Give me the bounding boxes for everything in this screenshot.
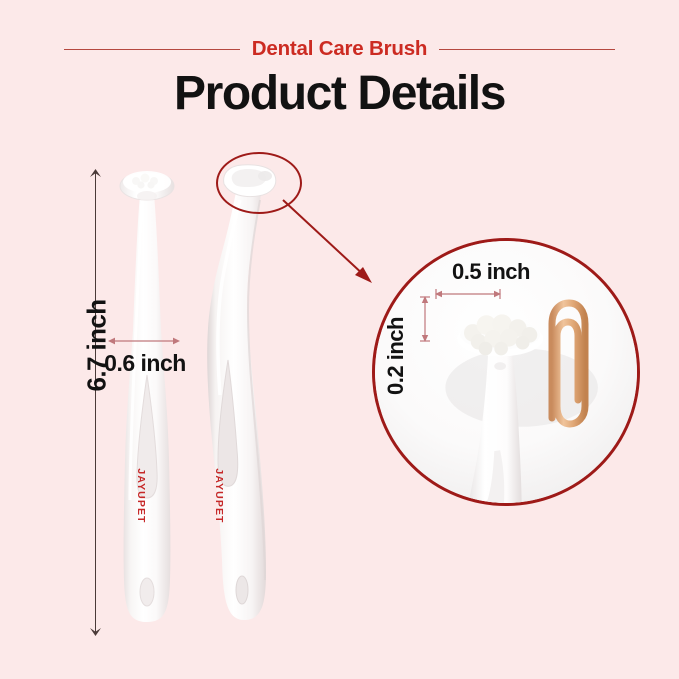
head-width-dimension <box>435 289 501 299</box>
head-collar <box>137 191 157 201</box>
rule-left <box>64 49 240 50</box>
length-arrow-top <box>89 169 102 178</box>
hang-hole <box>140 578 154 606</box>
length-arrow-bottom <box>89 627 102 636</box>
paperclip-reference-object <box>536 296 592 430</box>
eyebrow-text: Dental Care Brush <box>252 39 427 60</box>
handle-width-dimension <box>108 336 180 346</box>
rule-right <box>439 49 615 50</box>
head-width-label: 0.5 inch <box>421 259 561 285</box>
handle-width-label: 0.6 inch <box>85 350 205 377</box>
head-height-dimension <box>420 296 430 342</box>
callout-connector-arrow <box>280 195 380 290</box>
hang-hole <box>236 576 248 604</box>
head-height-label: 0.2 inch <box>383 296 409 416</box>
page-title: Product Details <box>0 68 679 121</box>
product-infographic: Dental Care Brush Product Details <box>0 0 679 679</box>
brand-label-side: JAYUPET <box>213 461 225 531</box>
brush-handle <box>207 192 266 620</box>
eyebrow-row: Dental Care Brush <box>0 36 679 62</box>
header: Dental Care Brush Product Details <box>0 0 679 140</box>
brand-label-front: JAYUPET <box>135 461 147 531</box>
